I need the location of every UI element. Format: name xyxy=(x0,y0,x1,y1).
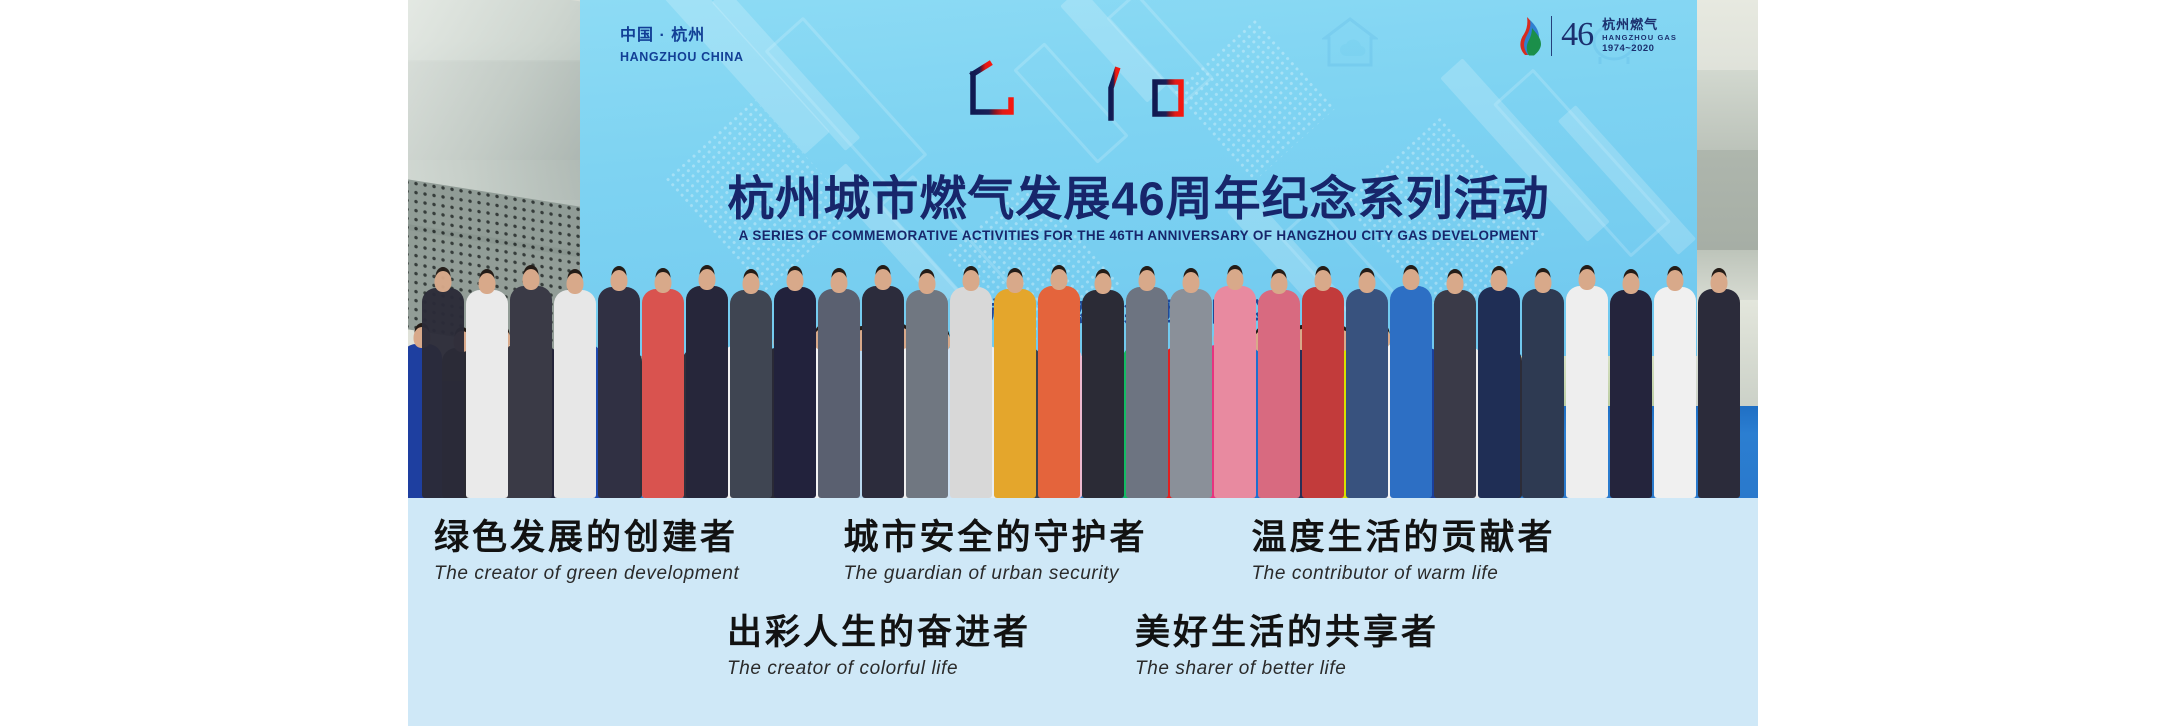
hangzhou-gas-brand-lockup: 46 杭州燃气 HANGZHOU GAS 1974~2020 xyxy=(1516,16,1677,56)
slogan-en: The creator of colorful life xyxy=(727,658,1031,680)
screenshot-root: 中国 · 杭州 HANGZHOU CHINA 46 杭州燃气 HANGZHOU … xyxy=(0,0,2179,726)
person xyxy=(642,289,684,498)
person xyxy=(422,288,464,498)
person xyxy=(818,289,860,498)
person xyxy=(686,286,728,498)
slogan-colorful-life: 出彩人生的奋进者 The creator of colorful life xyxy=(727,611,1031,680)
person xyxy=(1038,286,1080,498)
person xyxy=(1258,290,1300,498)
person xyxy=(1698,289,1740,498)
person xyxy=(554,290,596,498)
person xyxy=(466,290,508,498)
slogan-cn: 出彩人生的奋进者 xyxy=(727,611,1031,655)
person xyxy=(730,290,772,498)
slogan-better-life: 美好生活的共享者 The sharer of better life xyxy=(1135,611,1439,680)
person xyxy=(1302,287,1344,498)
brand-divider xyxy=(1551,16,1553,56)
slogan-cn: 温度生活的贡献者 xyxy=(1251,516,1555,560)
person xyxy=(598,287,640,498)
slogan-en: The creator of green development xyxy=(434,563,739,585)
person xyxy=(950,287,992,498)
person xyxy=(510,286,552,498)
person xyxy=(994,289,1036,498)
slogan-urban-security: 城市安全的守护者 The guardian of urban security xyxy=(843,516,1147,585)
person xyxy=(1654,287,1696,498)
flame-icon xyxy=(1516,16,1542,56)
slogan-warm-life: 温度生活的贡献者 The contributor of warm life xyxy=(1251,516,1555,585)
slogan-cn: 绿色发展的创建者 xyxy=(434,516,739,560)
person xyxy=(1346,289,1388,498)
person xyxy=(1478,287,1520,498)
person xyxy=(1082,290,1124,498)
group-photo: 中国 · 杭州 HANGZHOU CHINA 46 杭州燃气 HANGZHOU … xyxy=(408,0,1758,498)
person xyxy=(906,290,948,498)
person xyxy=(862,286,904,498)
person xyxy=(1610,290,1652,498)
person xyxy=(1522,289,1564,498)
brand-names: 杭州燃气 HANGZHOU GAS 1974~2020 xyxy=(1602,17,1677,55)
content-column: 中国 · 杭州 HANGZHOU CHINA 46 杭州燃气 HANGZHOU … xyxy=(408,0,1758,726)
slogan-row-1: 绿色发展的创建者 The creator of green developmen… xyxy=(408,516,1784,585)
person xyxy=(1566,286,1608,498)
person xyxy=(1170,289,1212,498)
slogan-cn: 城市安全的守护者 xyxy=(843,516,1147,560)
person xyxy=(1126,287,1168,498)
anniversary-number: 46 xyxy=(1561,18,1593,55)
person xyxy=(774,287,816,498)
slogan-row-2: 出彩人生的奋进者 The creator of colorful life 美好… xyxy=(408,611,1758,680)
crowd xyxy=(408,170,1758,498)
slogan-green-development: 绿色发展的创建者 The creator of green developmen… xyxy=(434,516,739,585)
location-cn: 中国 · 杭州 xyxy=(620,24,744,48)
person xyxy=(1214,286,1256,498)
brand-years: 1974~2020 xyxy=(1602,43,1677,55)
person xyxy=(1390,286,1432,498)
person xyxy=(1434,290,1476,498)
slogan-en: The contributor of warm life xyxy=(1251,563,1555,585)
slogan-en: The sharer of better life xyxy=(1135,658,1439,680)
slogans-panel: 绿色发展的创建者 The creator of green developmen… xyxy=(408,498,1758,726)
company-name-cn: 杭州燃气 xyxy=(1602,17,1677,34)
slogan-cn: 美好生活的共享者 xyxy=(1135,611,1439,655)
hero-logotype xyxy=(580,56,1697,128)
company-name-en: HANGZHOU GAS xyxy=(1602,33,1677,43)
slogan-en: The guardian of urban security xyxy=(843,563,1147,585)
